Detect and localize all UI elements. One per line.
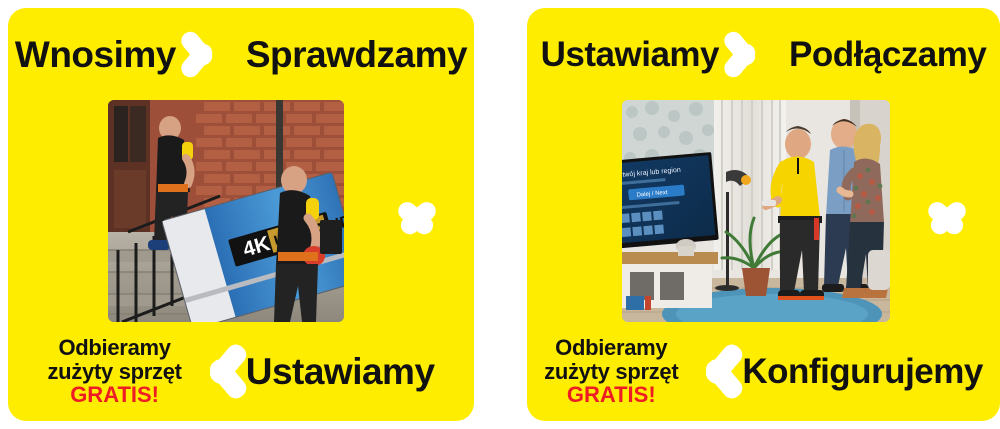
panel-right-bottom-label: Konfigurujemy [742, 354, 982, 389]
chevron-down-icon [382, 188, 454, 236]
panel-left-photo: 4K ULTRA HD [108, 100, 344, 322]
panel-left-heading-first-label: Wnosimy [15, 36, 176, 73]
chevron-left-icon [188, 336, 240, 408]
panel-left-bottom-row: Odbieramy zużyty sprzęt GRATIS! Ustawiam… [8, 322, 474, 421]
recycle-line-1: Odbieramy [544, 336, 678, 360]
chevron-left-icon [684, 336, 736, 408]
chevron-right-icon [731, 23, 777, 85]
panel-left-heading-second-label: Sprawdzamy [246, 36, 467, 73]
panel-right-bottom-row: Odbieramy zużyty sprzęt GRATIS! Konfigur… [527, 322, 1000, 421]
panel-left-heading-row: Wnosimy Sprawdzamy [8, 8, 474, 100]
panel-left-bottom-label: Ustawiamy [246, 353, 435, 390]
tv-setup-illustration: rz twój kraj lub region Dalej / Next [622, 100, 890, 322]
panel-right-photo: rz twój kraj lub region Dalej / Next [622, 100, 890, 322]
panel-right-recycle-note: Odbieramy zużyty sprzęt GRATIS! [544, 336, 678, 407]
recycle-line-2: zużyty sprzęt [544, 360, 678, 384]
service-step-panel-left: Wnosimy Sprawdzamy [8, 8, 474, 421]
panel-left-recycle-note: Odbieramy zużyty sprzęt GRATIS! [47, 336, 181, 407]
delivery-workers-illustration: 4K ULTRA HD [108, 100, 344, 322]
recycle-free-badge: GRATIS! [544, 383, 678, 407]
recycle-line-1: Odbieramy [47, 336, 181, 360]
recycle-line-2: zużyty sprzęt [47, 360, 181, 384]
chevron-right-icon [188, 23, 234, 85]
panel-right-heading-second-label: Podłączamy [789, 37, 986, 72]
panel-right-heading-first-label: Ustawiamy [541, 37, 719, 72]
chevron-down-icon [912, 188, 984, 236]
service-step-panel-right: Ustawiamy Podłączamy [527, 8, 1000, 421]
panel-right-heading-row: Ustawiamy Podłączamy [527, 8, 1000, 100]
recycle-free-badge: GRATIS! [47, 383, 181, 407]
service-steps-banner: Wnosimy Sprawdzamy [0, 0, 1000, 429]
